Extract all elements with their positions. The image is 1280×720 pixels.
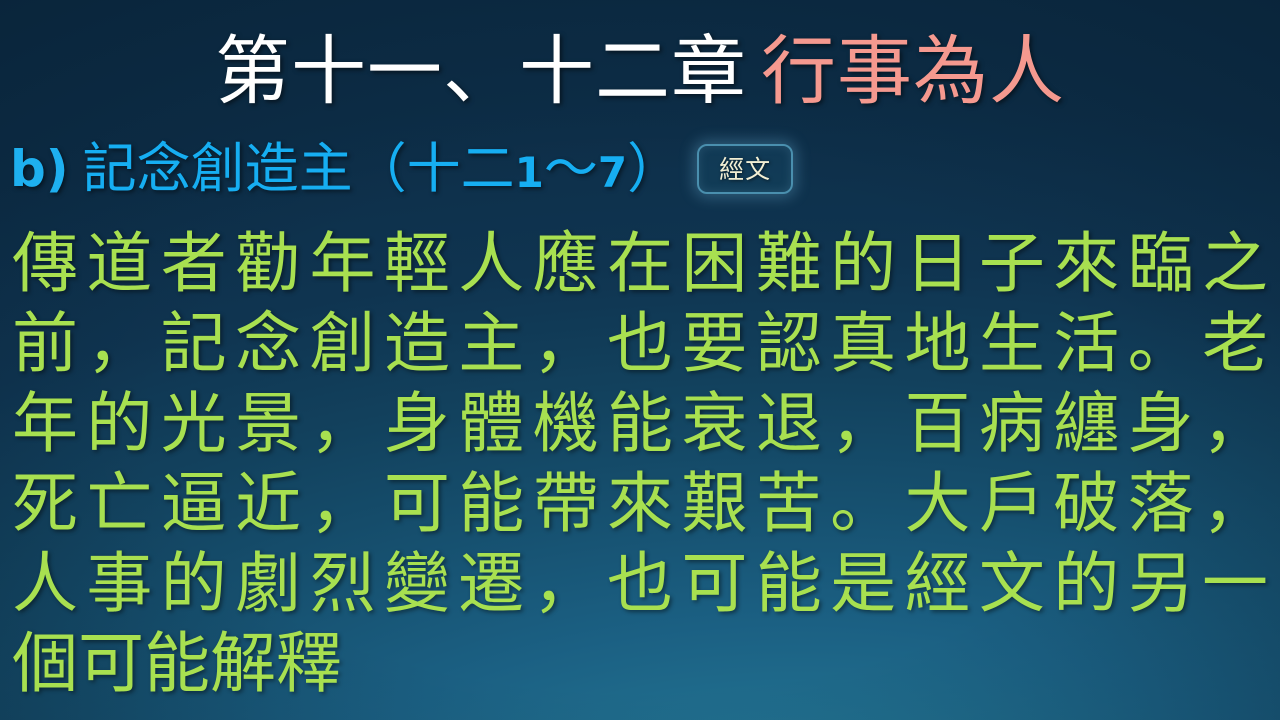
body-glyph: 百: [905, 384, 971, 464]
body-glyph: 輕: [384, 224, 450, 304]
body-glyph: 遷: [458, 544, 524, 624]
body-glyph: 子: [979, 224, 1045, 304]
body-glyph: 記: [161, 304, 227, 384]
reference-separator: ～: [544, 137, 598, 200]
presentation-slide: 第十一、十二章行事為人 b) 記念創造主 （十二1～7） 經文 傳道者勸年輕人應…: [0, 0, 1280, 720]
body-glyph: 應: [533, 224, 599, 304]
body-glyph: 帶: [533, 464, 599, 544]
body-glyph: 艱: [681, 464, 747, 544]
body-glyph: 人: [12, 544, 78, 624]
body-glyph: 身: [384, 384, 450, 464]
body-glyph: 破: [1053, 464, 1119, 544]
body-glyph: 近: [235, 464, 301, 544]
body-glyph: 是: [830, 544, 896, 624]
body-glyph: 臨: [1128, 224, 1194, 304]
body-glyph: 也: [607, 544, 673, 624]
body-glyph: 身: [1128, 384, 1194, 464]
body-glyph: 生: [979, 304, 1045, 384]
body-glyph: 戶: [979, 464, 1045, 544]
body-line: 個可能解釋: [12, 624, 1268, 704]
body-glyph: 真: [830, 304, 896, 384]
body-glyph: 衰: [681, 384, 747, 464]
body-glyph: 烈: [310, 544, 376, 624]
body-glyph: 退: [756, 384, 822, 464]
body-glyph: 光: [161, 384, 227, 464]
body-glyph: 難: [756, 224, 822, 304]
body-glyph: 體: [458, 384, 524, 464]
body-glyph: 病: [979, 384, 1045, 464]
body-glyph: 。: [830, 464, 896, 544]
body-glyph: ，: [1202, 464, 1268, 544]
body-glyph: 文: [979, 544, 1045, 624]
body-glyph: 可: [681, 544, 747, 624]
body-glyph: 來: [1053, 224, 1119, 304]
body-glyph: 事: [86, 544, 152, 624]
scripture-button-label: 經文: [719, 157, 771, 182]
body-glyph: 創: [310, 304, 376, 384]
reference-verse-end: 7: [598, 148, 627, 197]
body-paragraph: 傳道者勸年輕人應在困難的日子來臨之 前，記念創造主，也要認真地生活。老 年的光景…: [12, 224, 1268, 704]
title-accent-text: 行事為人: [761, 27, 1065, 115]
body-glyph: ，: [533, 304, 599, 384]
body-glyph: 。: [1128, 304, 1194, 384]
body-glyph: 念: [235, 304, 301, 384]
body-glyph: 能: [458, 464, 524, 544]
body-glyph: 落: [1128, 464, 1194, 544]
scripture-button[interactable]: 經文: [697, 144, 793, 194]
body-glyph: 地: [905, 304, 971, 384]
body-glyph: 者: [161, 224, 227, 304]
body-glyph: ，: [86, 304, 152, 384]
body-glyph: 能: [756, 544, 822, 624]
body-line: 死亡逼近，可能帶來艱苦。大戶破落，: [12, 464, 1268, 544]
subheading-title: 記念創造主: [83, 142, 353, 196]
body-glyph: 機: [533, 384, 599, 464]
body-glyph: 活: [1053, 304, 1119, 384]
body-glyph: 可: [384, 464, 450, 544]
body-glyph: 造: [384, 304, 450, 384]
body-glyph: 變: [384, 544, 450, 624]
body-glyph: 死: [12, 464, 78, 544]
body-glyph: 年: [310, 224, 376, 304]
body-glyph: 也: [607, 304, 673, 384]
body-glyph: 年: [12, 384, 78, 464]
body-glyph: 苦: [756, 464, 822, 544]
body-glyph: 經: [905, 544, 971, 624]
title-chapter-text: 第十一、十二章: [215, 27, 747, 115]
body-glyph: ，: [310, 384, 376, 464]
body-glyph: 一: [1202, 544, 1268, 624]
slide-title: 第十一、十二章行事為人: [0, 34, 1280, 109]
reference-close-paren: ）: [627, 137, 681, 200]
body-glyph: 傳: [12, 224, 78, 304]
body-glyph: 要: [681, 304, 747, 384]
body-glyph: 劇: [235, 544, 301, 624]
reference-verse-start: 1: [515, 148, 544, 197]
body-glyph: 的: [1053, 544, 1119, 624]
body-glyph: 前: [12, 304, 78, 384]
body-glyph: 另: [1128, 544, 1194, 624]
body-glyph: ，: [533, 544, 599, 624]
subheading-row: b) 記念創造主 （十二1～7） 經文: [10, 142, 1280, 196]
body-glyph: 的: [86, 384, 152, 464]
body-glyph: ，: [830, 384, 896, 464]
body-glyph: 景: [235, 384, 301, 464]
body-line: 前，記念創造主，也要認真地生活。老: [12, 304, 1268, 384]
body-glyph: ，: [310, 464, 376, 544]
body-glyph: 日: [905, 224, 971, 304]
body-glyph: 能: [607, 384, 673, 464]
body-glyph: 人: [458, 224, 524, 304]
body-glyph: 困: [681, 224, 747, 304]
reference-open-paren: （十二: [353, 137, 515, 200]
body-glyph: 主: [458, 304, 524, 384]
body-line: 人事的劇烈變遷，也可能是經文的另一: [12, 544, 1268, 624]
body-glyph: 亡: [86, 464, 152, 544]
subheading-reference: （十二1～7）: [353, 142, 681, 196]
subheading-marker: b): [10, 144, 69, 194]
body-glyph: 的: [161, 544, 227, 624]
body-glyph: ，: [1202, 384, 1268, 464]
body-glyph: 逼: [161, 464, 227, 544]
body-glyph: 道: [86, 224, 152, 304]
body-line: 傳道者勸年輕人應在困難的日子來臨之: [12, 224, 1268, 304]
body-glyph: 勸: [235, 224, 301, 304]
body-glyph: 認: [756, 304, 822, 384]
body-glyph: 的: [830, 224, 896, 304]
body-glyph: 大: [905, 464, 971, 544]
body-glyph: 老: [1202, 304, 1268, 384]
body-glyph: 纏: [1053, 384, 1119, 464]
body-line: 年的光景，身體機能衰退，百病纏身，: [12, 384, 1268, 464]
body-glyph: 來: [607, 464, 673, 544]
body-glyph: 之: [1202, 224, 1268, 304]
body-glyph: 在: [607, 224, 673, 304]
